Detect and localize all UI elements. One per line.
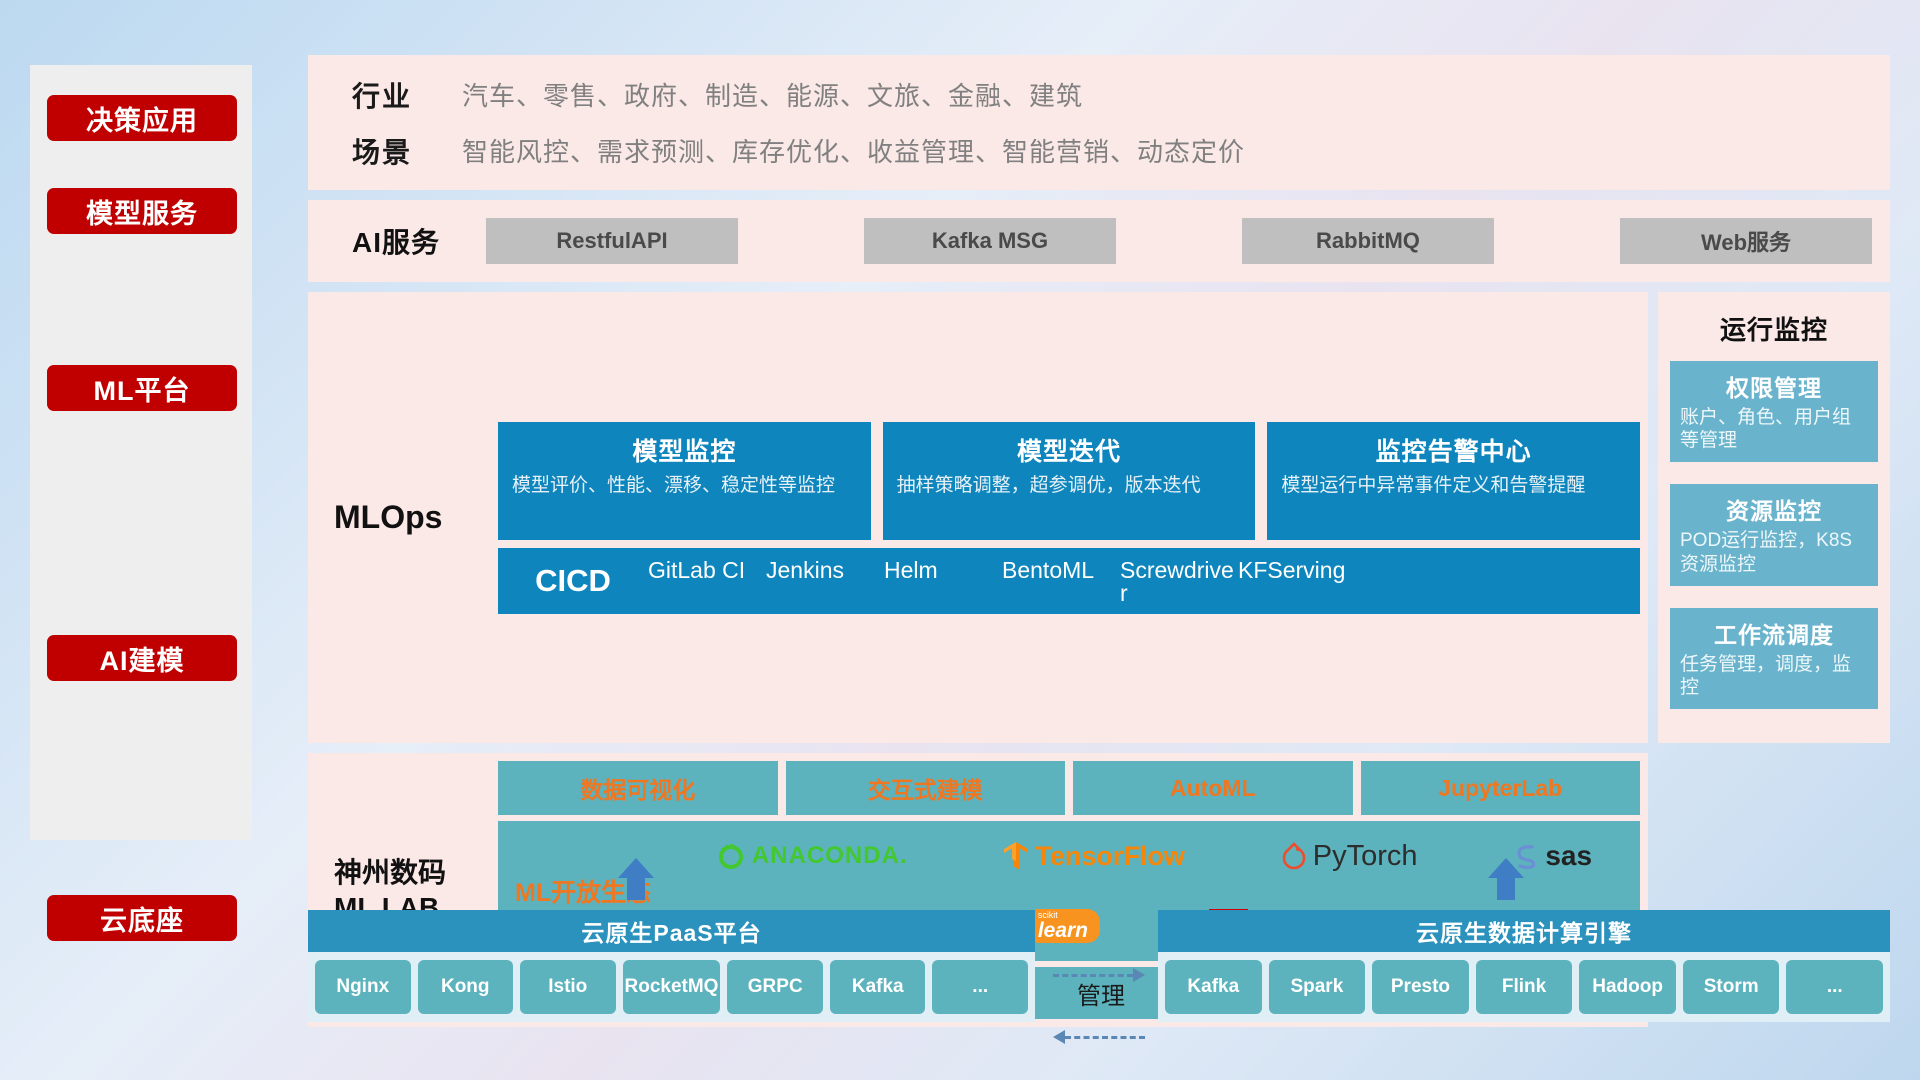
- industry-key: 行业: [326, 75, 462, 115]
- compute-chip-hadoop[interactable]: Hadoop: [1579, 960, 1676, 1014]
- cicd-row: CICD GitLab CI Jenkins Helm BentoML Scre…: [498, 548, 1640, 614]
- card-title: 工作流调度: [1680, 616, 1868, 650]
- anaconda-wordmark: ANACONDA.: [752, 842, 908, 870]
- layer-rail: 决策应用 模型服务 ML平台 AI建模: [30, 65, 252, 840]
- cicd-item-jenkins[interactable]: Jenkins: [766, 557, 884, 605]
- cicd-item-gitlab-ci[interactable]: GitLab CI: [648, 557, 766, 605]
- card-desc: 任务管理，调度，监控: [1680, 653, 1868, 699]
- mlops-card-model-monitoring[interactable]: 模型监控 模型评价、性能、漂移、稳定性等监控: [498, 422, 871, 540]
- tensorflow-wordmark: TensorFlow: [1035, 841, 1185, 872]
- tensorflow-icon: [1003, 841, 1029, 871]
- rail-item-model-service[interactable]: 模型服务: [47, 188, 237, 234]
- compute-chip-flink[interactable]: Flink: [1476, 960, 1573, 1014]
- cicd-item-screwdriver[interactable]: Screwdriver: [1120, 557, 1238, 605]
- ai-service-band: AI服务 RestfulAPI Kafka MSG RabbitMQ Web服务: [308, 200, 1890, 282]
- paas-chip-istio[interactable]: Istio: [520, 960, 616, 1014]
- rail-label: ML平台: [94, 369, 191, 408]
- chip-restful-api[interactable]: RestfulAPI: [486, 218, 738, 264]
- card-desc: 模型运行中异常事件定义和告警提醒: [1281, 474, 1626, 498]
- card-title: 监控告警中心: [1281, 432, 1626, 468]
- rail-item-ml-platform[interactable]: ML平台: [47, 365, 237, 411]
- main-column: 行业 汽车、零售、政府、制造、能源、文旅、金融、建筑 场景 智能风控、需求预测、…: [308, 55, 1890, 1027]
- pytorch-wordmark: PyTorch: [1313, 840, 1418, 873]
- scenario-key: 场景: [326, 131, 462, 171]
- compute-chip-more[interactable]: ...: [1786, 960, 1883, 1014]
- card-title: 模型迭代: [897, 432, 1242, 468]
- decision-apps-band: 行业 汽车、零售、政府、制造、能源、文旅、金融、建筑 场景 智能风控、需求预测、…: [308, 55, 1890, 190]
- rail-item-decision-apps[interactable]: 决策应用: [47, 95, 237, 141]
- rail-label: 云底座: [100, 899, 184, 938]
- paas-platform-title: 云原生PaaS平台: [308, 910, 1035, 952]
- chip-web-service[interactable]: Web服务: [1620, 218, 1872, 264]
- cicd-item-bentoml[interactable]: BentoML: [1002, 557, 1120, 605]
- rail-item-cloud-base[interactable]: 云底座: [47, 895, 237, 941]
- cloud-base-band: 云原生PaaS平台 Nginx Kong Istio RocketMQ GRPC…: [308, 890, 1890, 1035]
- tile-automl[interactable]: AutoML: [1073, 761, 1353, 815]
- tile-data-visualization[interactable]: 数据可视化: [498, 761, 778, 815]
- paas-chip-more[interactable]: ...: [932, 960, 1028, 1014]
- rail-label: AI建模: [100, 639, 185, 678]
- arrow-up-compute-icon: [1488, 858, 1524, 900]
- scenario-row: 场景 智能风控、需求预测、库存优化、收益管理、智能营销、动态定价: [326, 123, 1872, 179]
- mlops-label: MLOps: [308, 499, 498, 536]
- card-desc: POD运行监控，K8S资源监控: [1680, 529, 1868, 575]
- rail-item-ai-modeling[interactable]: AI建模: [47, 635, 237, 681]
- monitor-card-resource[interactable]: 资源监控 POD运行监控，K8S资源监控: [1670, 484, 1878, 585]
- rail-label: 决策应用: [86, 99, 198, 138]
- cicd-title: CICD: [498, 563, 648, 599]
- card-title: 资源监控: [1680, 492, 1868, 526]
- tensorflow-logo: TensorFlow: [1003, 841, 1185, 872]
- card-title: 模型监控: [512, 432, 857, 468]
- industry-row: 行业 汽车、零售、政府、制造、能源、文旅、金融、建筑: [326, 67, 1872, 123]
- compute-chip-kafka[interactable]: Kafka: [1165, 960, 1262, 1014]
- ml-platform-band: MLOps 模型监控 模型评价、性能、漂移、稳定性等监控 模型迭代 抽样策略调整…: [308, 292, 1890, 743]
- monitor-card-permission[interactable]: 权限管理 账户、角色、用户组等管理: [1670, 361, 1878, 462]
- scenario-value: 智能风控、需求预测、库存优化、收益管理、智能营销、动态定价: [462, 132, 1245, 169]
- industry-value: 汽车、零售、政府、制造、能源、文旅、金融、建筑: [462, 76, 1083, 113]
- runtime-monitor-title: 运行监控: [1670, 310, 1878, 347]
- arrow-left-icon: [1053, 1030, 1145, 1044]
- data-compute-engine-title: 云原生数据计算引擎: [1158, 910, 1890, 952]
- chip-rabbitmq[interactable]: RabbitMQ: [1242, 218, 1494, 264]
- mlops-panel: MLOps 模型监控 模型评价、性能、漂移、稳定性等监控 模型迭代 抽样策略调整…: [308, 292, 1648, 743]
- sas-logo: sas: [1513, 840, 1592, 872]
- card-desc: 模型评价、性能、漂移、稳定性等监控: [512, 474, 857, 498]
- paas-chip-list: Nginx Kong Istio RocketMQ GRPC Kafka ...: [308, 952, 1035, 1022]
- mlops-card-list: 模型监控 模型评价、性能、漂移、稳定性等监控 模型迭代 抽样策略调整，超参调优，…: [498, 422, 1640, 540]
- mlops-card-model-iteration[interactable]: 模型迭代 抽样策略调整，超参调优，版本迭代: [883, 422, 1256, 540]
- rail-label: 模型服务: [86, 192, 198, 231]
- pytorch-icon: [1281, 841, 1307, 871]
- paas-chip-grpc[interactable]: GRPC: [727, 960, 823, 1014]
- compute-chip-presto[interactable]: Presto: [1372, 960, 1469, 1014]
- card-title: 权限管理: [1680, 369, 1868, 403]
- paas-chip-rocketmq[interactable]: RocketMQ: [623, 960, 721, 1014]
- runtime-monitor-panel: 运行监控 权限管理 账户、角色、用户组等管理 资源监控 POD运行监控，K8S资…: [1658, 292, 1890, 743]
- arrow-up-paas-icon: [618, 858, 654, 900]
- anaconda-icon: [716, 841, 746, 871]
- paas-platform-group: 云原生PaaS平台 Nginx Kong Istio RocketMQ GRPC…: [308, 910, 1035, 1022]
- monitor-card-workflow[interactable]: 工作流调度 任务管理，调度，监控: [1670, 608, 1878, 709]
- paas-chip-kong[interactable]: Kong: [418, 960, 514, 1014]
- paas-chip-nginx[interactable]: Nginx: [315, 960, 411, 1014]
- chip-kafka-msg[interactable]: Kafka MSG: [864, 218, 1116, 264]
- cicd-item-helm[interactable]: Helm: [884, 557, 1002, 605]
- paas-chip-kafka[interactable]: Kafka: [830, 960, 926, 1014]
- compute-chip-list: Kafka Spark Presto Flink Hadoop Storm ..…: [1158, 952, 1890, 1022]
- cicd-item-kfserving[interactable]: KFServing: [1238, 557, 1356, 605]
- card-desc: 抽样策略调整，超参调优，版本迭代: [897, 474, 1242, 498]
- data-compute-engine-group: 云原生数据计算引擎 Kafka Spark Presto Flink Hadoo…: [1158, 910, 1890, 1022]
- ai-service-label: AI服务: [326, 221, 486, 261]
- compute-chip-spark[interactable]: Spark: [1269, 960, 1366, 1014]
- tile-jupyterlab[interactable]: JupyterLab: [1361, 761, 1641, 815]
- card-desc: 账户、角色、用户组等管理: [1680, 406, 1868, 452]
- anaconda-logo: ANACONDA.: [716, 841, 908, 871]
- pytorch-logo: PyTorch: [1281, 840, 1418, 873]
- sas-wordmark: sas: [1545, 840, 1592, 872]
- tile-interactive-modeling[interactable]: 交互式建模: [786, 761, 1066, 815]
- ai-service-chip-list: RestfulAPI Kafka MSG RabbitMQ Web服务: [486, 218, 1872, 264]
- ml-lab-label-line1: 神州数码: [334, 855, 498, 890]
- ml-lab-tile-list: 数据可视化 交互式建模 AutoML JupyterLab: [498, 761, 1640, 815]
- mlops-card-alert-center[interactable]: 监控告警中心 模型运行中异常事件定义和告警提醒: [1267, 422, 1640, 540]
- compute-chip-storm[interactable]: Storm: [1683, 960, 1780, 1014]
- cicd-item-list: GitLab CI Jenkins Helm BentoML Screwdriv…: [648, 557, 1640, 605]
- arrow-right-icon: [1053, 968, 1145, 982]
